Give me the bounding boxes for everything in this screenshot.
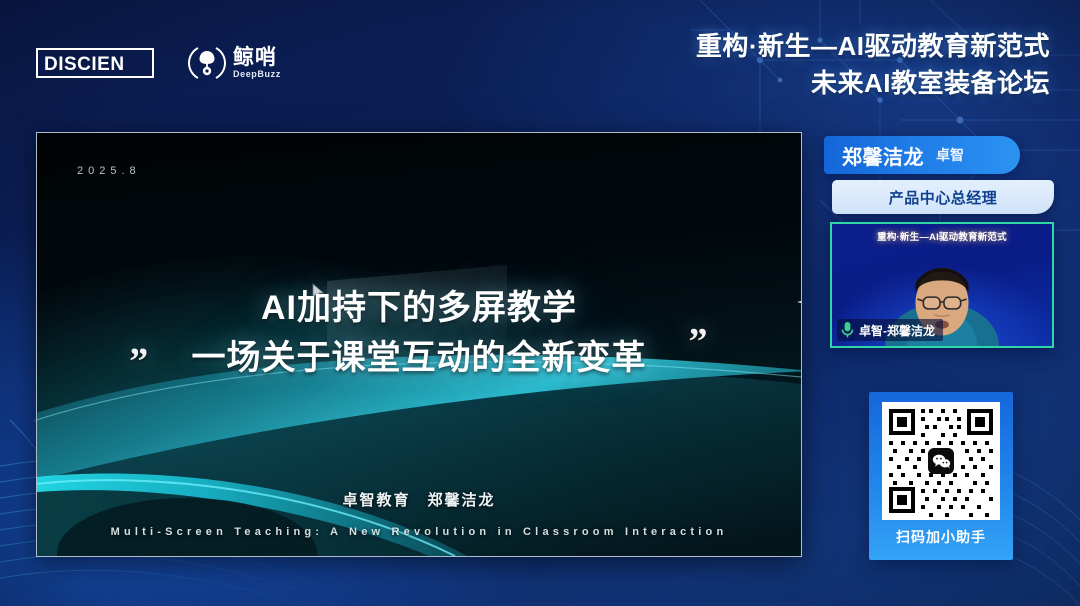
event-title-line-2: 未来AI教室装备论坛 <box>696 65 1050 102</box>
presentation-stage: DISCIEN 鲸哨 DeepBuzz 重构·新生—AI驱动教育新范式 <box>0 0 1080 606</box>
slide-canvas: 2025.8 „ AI加持下的多屏教学 一场关于课堂互动的全新变革 ” 卓智教育… <box>37 133 801 556</box>
slide-title: „ AI加持下的多屏教学 一场关于课堂互动的全新变革 ” <box>192 283 647 384</box>
speaker-company: 卓智 <box>936 145 964 165</box>
deepbuzz-cn-label: 鲸哨 <box>233 47 281 68</box>
slide-credit: 卓智教育 郑馨洁龙 <box>37 489 801 510</box>
wechat-icon <box>928 448 954 474</box>
qr-panel: 扫码加小助手 <box>869 392 1013 560</box>
speaker-name-banner: 郑馨洁龙 卓智 <box>824 136 1020 174</box>
speaker-name: 郑馨洁龙 <box>842 141 924 170</box>
quote-open-mark: „ <box>130 323 150 361</box>
deepbuzz-en-label: DeepBuzz <box>233 70 281 79</box>
speaker-role: 产品中心总经理 <box>889 187 998 208</box>
discien-logo-icon: DISCIEN <box>36 48 154 78</box>
speaker-video-tile[interactable]: 重构·新生—AI驱动教育新范式 卓智-郑馨洁龙 <box>830 222 1054 348</box>
whale-mark-icon <box>188 44 226 82</box>
video-overlay-title: 重构·新生—AI驱动教育新范式 <box>832 229 1052 243</box>
video-name-label: 卓智-郑馨洁龙 <box>859 322 935 339</box>
slide-title-block: „ AI加持下的多屏教学 一场关于课堂互动的全新变革 ” <box>37 283 801 384</box>
event-title: 重构·新生—AI驱动教育新范式 未来AI教室装备论坛 <box>696 28 1050 102</box>
svg-text:DISCIEN: DISCIEN <box>44 54 125 75</box>
discien-logo: DISCIEN <box>36 48 154 78</box>
logo-bar: DISCIEN 鲸哨 DeepBuzz <box>36 44 281 82</box>
event-title-line-1: 重构·新生—AI驱动教育新范式 <box>696 28 1050 65</box>
qr-code-image <box>882 402 1000 520</box>
slide-date: 2025.8 <box>77 165 141 177</box>
video-name-tag: 卓智-郑馨洁龙 <box>837 319 943 341</box>
microphone-icon <box>841 321 854 339</box>
slide-title-line-2: 一场关于课堂互动的全新变革 <box>192 333 647 383</box>
deepbuzz-logo: 鲸哨 DeepBuzz <box>188 44 281 82</box>
qr-label: 扫码加小助手 <box>896 527 986 547</box>
presentation-slide[interactable]: 2025.8 „ AI加持下的多屏教学 一场关于课堂互动的全新变革 ” 卓智教育… <box>36 132 802 557</box>
slide-title-line-1: AI加持下的多屏教学 <box>192 283 647 333</box>
wechat-glyph-icon <box>932 454 951 469</box>
quote-close-mark: ” <box>689 323 709 361</box>
slide-subtitle-en: Multi-Screen Teaching: A New Revolution … <box>37 526 801 538</box>
speaker-role-box: 产品中心总经理 <box>832 180 1054 214</box>
